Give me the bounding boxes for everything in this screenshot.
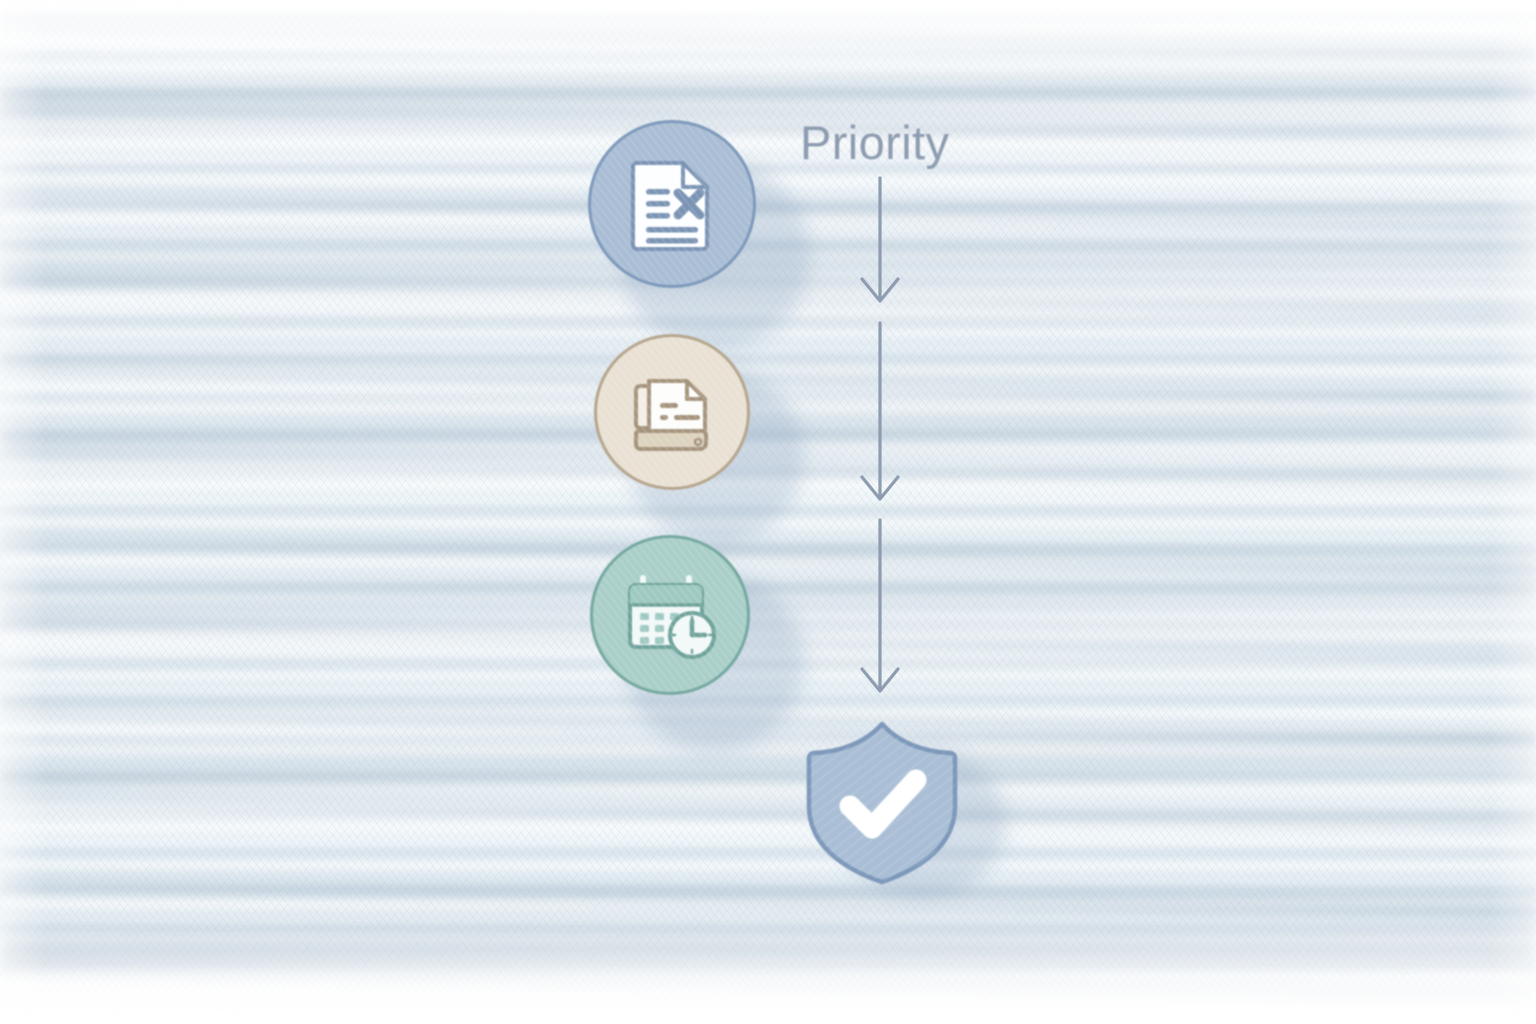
diagram-canvas: Priority xyxy=(0,0,1536,1024)
arrow-3 xyxy=(862,520,898,691)
flow-connectors xyxy=(0,0,1536,1024)
priority-label: Priority xyxy=(800,117,949,169)
arrow-2 xyxy=(862,323,898,499)
arrow-1 xyxy=(862,178,898,301)
